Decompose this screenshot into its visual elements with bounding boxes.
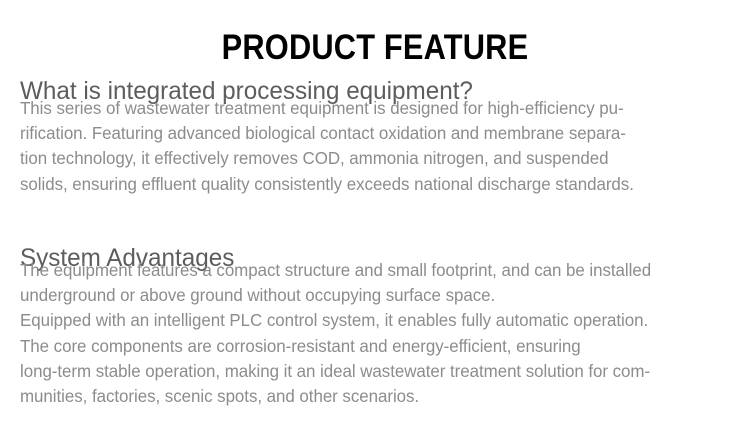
system-advantages-paragraph: The equipment features a compact structu… [20,258,724,409]
body-line: The core components are corrosion-resist… [20,334,724,359]
body-line: solids, ensuring effluent quality consis… [20,172,724,197]
body-line: Equipped with an intelligent PLC control… [20,308,724,333]
body-line: This series of wastewater treatment equi… [20,96,724,121]
body-line: tion technology, it effectively removes … [20,146,724,171]
body-line: underground or above ground without occu… [20,283,724,308]
body-line: munities, factories, scenic spots, and o… [20,384,724,409]
body-line: The equipment features a compact structu… [20,258,724,283]
product-feature-page: PRODUCT FEATURE What is integrated proce… [0,0,750,426]
page-title: PRODUCT FEATURE [45,25,705,71]
intro-paragraph: This series of wastewater treatment equi… [20,96,724,197]
body-line: long-term stable operation, making it an… [20,359,724,384]
body-line: rification. Featuring advanced biologica… [20,121,724,146]
